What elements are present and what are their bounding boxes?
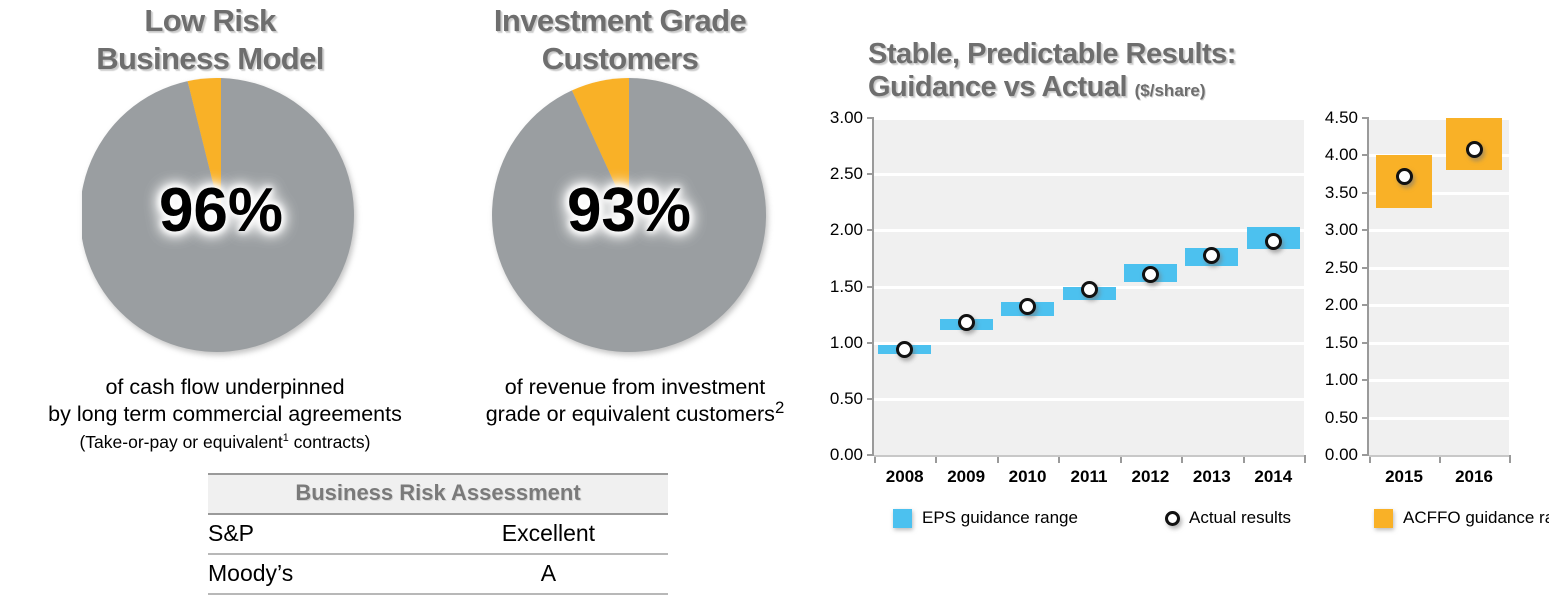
chart-title-line1: Stable, Predictable Results: (868, 38, 1236, 70)
chart-title: Stable, Predictable Results: Guidance vs… (868, 38, 1428, 107)
pie-1-title-line1: Low Risk (144, 3, 275, 38)
chart-title-units: ($/share) (1135, 81, 1206, 100)
y-axis-tick-label: 0.00 (811, 445, 863, 465)
y-axis-line (872, 118, 874, 455)
actual-result-marker (1081, 281, 1098, 298)
y-axis-tick-label: 1.50 (811, 277, 863, 297)
legend-item-actual: Actual results (1165, 508, 1291, 528)
y-axis-tick-label: 4.50 (1306, 108, 1358, 128)
gridline (1369, 229, 1509, 232)
y-axis-tick-label: 0.50 (811, 389, 863, 409)
pie-1-subcaption-pre: (Take-or-pay or equivalent (79, 432, 282, 452)
x-axis-category-label: 2016 (1434, 467, 1514, 487)
pie-1-caption-line1: of cash flow underpinned (105, 375, 344, 399)
investment-grade-pie-chart: 93% (490, 76, 768, 354)
y-axis-tick-label: 3.00 (811, 108, 863, 128)
actual-result-marker (1466, 141, 1483, 158)
rating-agency-name: Moody’s (208, 554, 429, 594)
gridline (874, 342, 1304, 345)
table-header-label: Business Risk Assessment (208, 474, 668, 514)
chart-title-line2: Guidance vs Actual (868, 71, 1127, 103)
y-axis-line (1367, 118, 1369, 455)
gridline (874, 229, 1304, 232)
x-axis-category-label: 2015 (1364, 467, 1444, 487)
gridline (1369, 304, 1509, 307)
pie-1-caption: of cash flow underpinned by long term co… (40, 374, 410, 454)
actual-result-marker (1203, 247, 1220, 264)
actual-result-marker (896, 341, 913, 358)
x-axis-category-label: 2014 (1233, 467, 1313, 487)
pie-1-percent-label: 96% (82, 180, 360, 242)
gridline (1369, 342, 1509, 345)
rating-value: Excellent (429, 514, 668, 554)
legend-label: EPS guidance range (922, 508, 1078, 528)
pie-1-subcaption: (Take-or-pay or equivalent1 contracts) (40, 430, 410, 454)
x-axis-line (874, 455, 1304, 457)
gridline (874, 398, 1304, 401)
legend-label: Actual results (1189, 508, 1291, 528)
pie-2-caption-line1: of revenue from investment (505, 375, 766, 399)
pie-2-caption: of revenue from investment grade or equi… (450, 374, 820, 428)
y-axis-tick-label: 1.00 (811, 333, 863, 353)
pie-1-subcaption-post: contracts) (289, 432, 371, 452)
y-axis-tick-label: 2.00 (1306, 295, 1358, 315)
pie-1-title: Low Risk Business Model (20, 2, 400, 78)
gridline (1369, 379, 1509, 382)
pie-2-footnote-marker: 2 (775, 398, 784, 417)
y-axis-tick-label: 0.50 (1306, 408, 1358, 428)
pie-2-title-line1: Investment Grade (494, 3, 746, 38)
business-risk-assessment-table: Business Risk Assessment S&P Excellent M… (208, 473, 668, 595)
x-axis-tick (1509, 455, 1511, 463)
y-axis-tick-label: 3.50 (1306, 183, 1358, 203)
table-row: Moody’s A (208, 554, 668, 594)
pie-2-title: Investment Grade Customers (430, 2, 810, 78)
table-header-row: Business Risk Assessment (208, 474, 668, 514)
pie-2-caption-line2: grade or equivalent customers (486, 402, 775, 426)
gridline (874, 173, 1304, 176)
actual-result-marker (1142, 266, 1159, 283)
gridline (1369, 417, 1509, 420)
rating-agency-name: S&P (208, 514, 429, 554)
legend-item-eps: EPS guidance range (893, 508, 1078, 528)
actual-result-marker (1396, 168, 1413, 185)
gridline (1369, 267, 1509, 270)
y-axis-tick-label: 3.00 (1306, 220, 1358, 240)
y-axis-tick-label: 2.50 (811, 164, 863, 184)
gridline (874, 117, 1304, 120)
rating-value: A (429, 554, 668, 594)
y-axis-tick-label: 0.00 (1306, 445, 1358, 465)
eps-color-swatch-icon (893, 509, 912, 528)
pie-2-percent-label: 93% (490, 180, 768, 242)
pie-1-title-line2: Business Model (96, 41, 324, 76)
pie-1-caption-line2: by long term commercial agreements (48, 402, 402, 426)
actual-result-marker (1265, 233, 1282, 250)
low-risk-pie-chart: 96% (82, 76, 360, 354)
x-axis-line (1369, 455, 1509, 457)
legend-label: ACFFO guidance range (1403, 508, 1549, 528)
acffo-color-swatch-icon (1374, 509, 1393, 528)
legend-item-acffo: ACFFO guidance range (1374, 508, 1549, 528)
y-axis-tick-label: 4.00 (1306, 145, 1358, 165)
y-axis-tick-label: 1.50 (1306, 333, 1358, 353)
y-axis-tick-label: 1.00 (1306, 370, 1358, 390)
pie-2-title-line2: Customers (542, 41, 699, 76)
y-axis-tick-label: 2.50 (1306, 258, 1358, 278)
table-row: S&P Excellent (208, 514, 668, 554)
actual-results-marker-icon (1165, 511, 1180, 526)
y-axis-tick-label: 2.00 (811, 220, 863, 240)
actual-result-marker (958, 314, 975, 331)
